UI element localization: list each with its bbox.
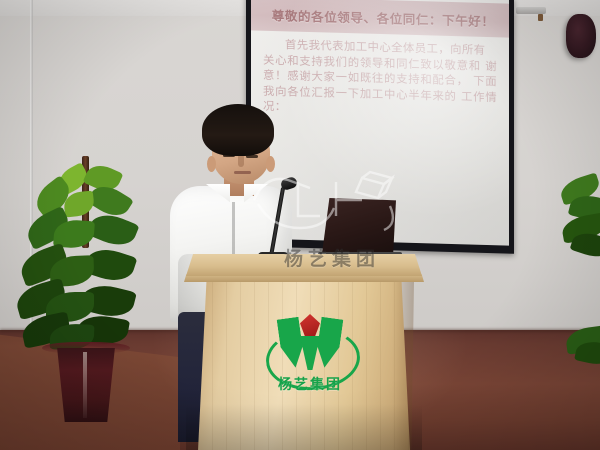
ear-right — [266, 156, 275, 172]
podium-top-surface — [186, 254, 422, 276]
plant-pot — [48, 348, 124, 422]
mouth — [234, 171, 251, 174]
photograph: 尊敬的各位领导、各位同仁：下午好！ 首先我代表加工中心全体员工，向所有 关心和支… — [0, 0, 600, 450]
laptop-screen — [322, 198, 396, 256]
company-logo: 杨艺集团 — [264, 306, 356, 398]
company-logo-text: 杨艺集团 — [264, 374, 356, 394]
potted-plant-left — [6, 158, 166, 428]
podium: 杨艺集团 — [186, 254, 422, 450]
potted-plant-right — [536, 178, 600, 358]
wall-speaker-icon — [566, 14, 596, 58]
ceiling-screen-mount-icon — [516, 7, 546, 14]
slide-title-band: 尊敬的各位领导、各位同仁：下午好！ — [251, 0, 509, 38]
screen-mount-bracket-icon — [538, 14, 543, 21]
podium-shadow — [186, 404, 422, 450]
ear-left — [207, 156, 216, 172]
slide-title: 尊敬的各位领导、各位同仁：下午好！ — [272, 4, 495, 29]
speaker-hair — [202, 104, 274, 156]
